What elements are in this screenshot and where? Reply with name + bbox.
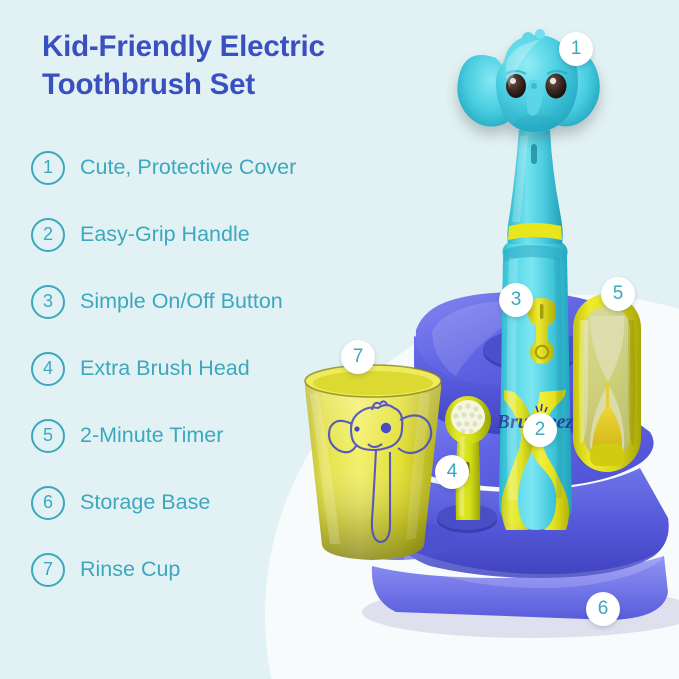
callout-badge-1[interactable]: 1 <box>559 32 593 66</box>
callout-badge-7[interactable]: 7 <box>341 340 375 374</box>
elephant-tuft-right <box>535 29 545 39</box>
cup-elephant-eye <box>381 423 391 433</box>
elephant-trunk-detail <box>531 83 537 89</box>
brush-neck <box>507 130 562 244</box>
product-photo: Brusheez <box>0 0 679 679</box>
timer-foot <box>590 444 624 466</box>
elephant-chin-shade <box>514 115 558 133</box>
callout-badge-5[interactable]: 5 <box>601 277 635 311</box>
callout-badge-6[interactable]: 6 <box>586 592 620 626</box>
timer-sand-stream <box>606 382 609 406</box>
hourglass-timer <box>573 294 641 472</box>
neck-slot <box>531 144 537 164</box>
rinse-cup <box>305 365 441 560</box>
callout-badge-3[interactable]: 3 <box>499 283 533 317</box>
power-button-upper-line <box>540 304 543 319</box>
rinse-cup-rim-inner <box>313 371 433 395</box>
elephant-eye-right <box>546 74 567 99</box>
infographic-canvas: Kid-Friendly Electric Toothbrush Set 1 C… <box>0 0 679 679</box>
callout-badge-4[interactable]: 4 <box>435 455 469 489</box>
toothbrush-handle-assembly: Brusheez <box>496 240 574 530</box>
cup-elephant-eye-far <box>354 426 359 431</box>
power-button-lower[interactable] <box>530 340 554 364</box>
brush-bristles <box>451 400 485 434</box>
callout-badge-2[interactable]: 2 <box>523 413 557 447</box>
elephant-eye-right-glint <box>550 78 556 84</box>
